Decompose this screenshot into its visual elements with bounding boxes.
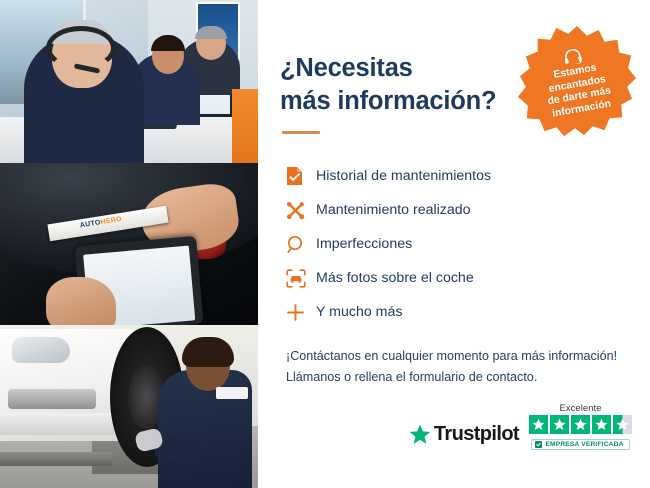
feature-label: Mantenimiento realizado <box>316 203 471 217</box>
feature-item-maintenance-done: Mantenimiento realizado <box>286 194 622 226</box>
check-box-icon <box>535 441 542 448</box>
page-title: ¿Necesitas más información? <box>280 52 510 117</box>
feature-item-imperfections: Imperfecciones <box>286 228 622 260</box>
plus-icon <box>286 303 316 322</box>
trustpilot-block[interactable]: Trustpilot Excelente EMPRESA VERIFICADA <box>409 402 632 450</box>
trustpilot-wordmark: Trustpilot <box>434 423 519 446</box>
car-bumper <box>0 413 124 435</box>
feature-item-more: Y mucho más <box>286 296 622 328</box>
trustpilot-star-icon <box>409 424 431 445</box>
feature-label: Y mucho más <box>316 305 402 319</box>
car-grille <box>8 389 96 409</box>
car-headlight <box>12 337 70 363</box>
contact-text: ¡Contáctanos en cualquier momento para m… <box>286 346 622 387</box>
star-4-icon <box>592 415 611 434</box>
ruler-brand-part-b: HERO <box>100 215 122 225</box>
rating-label: Excelente <box>559 402 601 413</box>
headline-line-1: ¿Necesitas <box>280 54 413 82</box>
ruler-brand: AUTOHERO <box>79 215 122 229</box>
star-3-icon <box>571 415 590 434</box>
uniform-logo-patch <box>216 387 248 399</box>
trustpilot-logo[interactable]: Trustpilot <box>409 423 519 450</box>
title-divider <box>282 131 320 134</box>
feature-item-maintenance-history: Historial de mantenimientos <box>286 160 622 192</box>
agent-hair-3 <box>195 26 227 39</box>
orange-chair <box>232 89 258 163</box>
star-2-icon <box>550 415 569 434</box>
content-panel: ¿Necesitas más información? Estamos enca… <box>258 0 650 488</box>
car-scan-icon <box>286 269 316 288</box>
contact-line-2: Llámanos o rellena el formulario de cont… <box>286 367 622 387</box>
feature-list: Historial de mantenimientos Mantenimient… <box>286 160 622 328</box>
ruler-brand-part-a: AUTO <box>79 219 101 229</box>
feature-label: Más fotos sobre el coche <box>316 271 474 285</box>
verified-business-badge: EMPRESA VERIFICADA <box>531 439 629 450</box>
star-5-half-icon <box>613 415 632 434</box>
headset-band-icon <box>46 26 116 70</box>
feature-label: Historial de mantenimientos <box>316 169 491 183</box>
photo-strip: AUTOHERO <box>0 0 258 488</box>
photo-mechanic-tyre <box>0 325 258 488</box>
car-lift-ramp <box>0 452 112 466</box>
magnifier-icon <box>286 235 316 254</box>
headset-icon <box>562 48 583 66</box>
photo-car-inspection: AUTOHERO <box>0 163 258 326</box>
tools-cross-icon <box>286 201 316 220</box>
star-rating <box>529 415 632 434</box>
contact-badge: Estamos encantados de darte más informac… <box>518 24 636 142</box>
feature-item-more-photos: Más fotos sobre el coche <box>286 262 622 294</box>
promo-card: AUTOHERO ¿Necesitas más <box>0 0 650 488</box>
feature-label: Imperfecciones <box>316 237 412 251</box>
photo-call-center <box>0 0 258 163</box>
verified-label: EMPRESA VERIFICADA <box>545 441 623 448</box>
contact-line-1: ¡Contáctanos en cualquier momento para m… <box>286 346 622 366</box>
headline-line-2: más información? <box>280 87 496 115</box>
star-1-icon <box>529 415 548 434</box>
inspector-hand-lower <box>46 277 116 325</box>
document-check-icon <box>286 166 316 186</box>
trustpilot-rating: Excelente EMPRESA VERIFICADA <box>529 402 632 450</box>
mechanic-hair <box>182 337 234 367</box>
